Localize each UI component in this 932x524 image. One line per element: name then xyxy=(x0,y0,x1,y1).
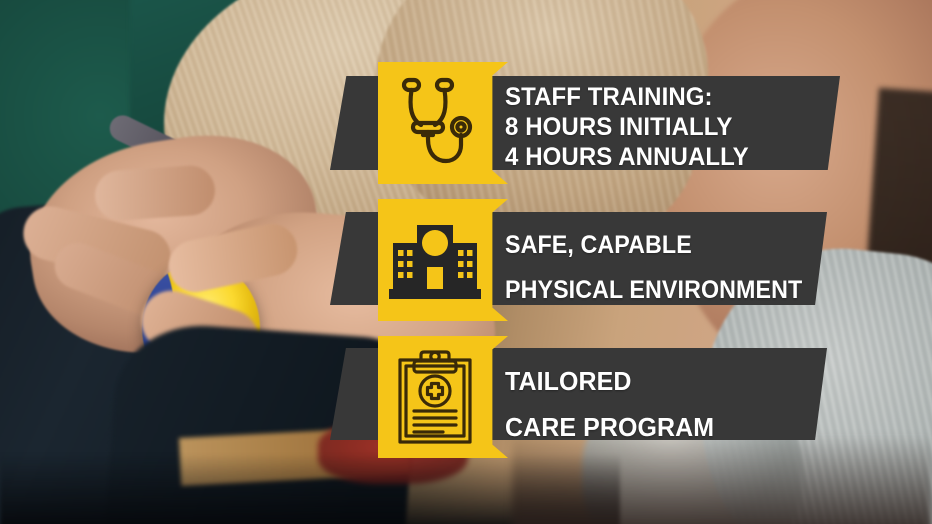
info-row-physical-environment: SAFE, CAPABLE PHYSICAL ENVIRONMENT xyxy=(330,199,850,321)
info-row-text: STAFF TRAINING: 8 HOURS INITIALLY 4 HOUR… xyxy=(505,82,749,172)
info-line-2: PHYSICAL ENVIRONMENT xyxy=(505,268,802,313)
info-line-1: SAFE, CAPABLE xyxy=(505,223,802,268)
info-line-1: TAILORED xyxy=(505,358,714,404)
stethoscope-icon xyxy=(378,62,492,184)
info-row-staff-training: STAFF TRAINING: 8 HOURS INITIALLY 4 HOUR… xyxy=(330,62,850,184)
info-row-icon-tile xyxy=(378,199,508,321)
info-row-care-program: TAILORED CARE PROGRAM xyxy=(330,336,850,458)
info-row-icon-tile xyxy=(378,336,508,458)
info-row-text: SAFE, CAPABLE PHYSICAL ENVIRONMENT xyxy=(505,223,802,313)
info-row-text: TAILORED CARE PROGRAM xyxy=(505,358,714,450)
infographic-overlay: STAFF TRAINING: 8 HOURS INITIALLY 4 HOUR… xyxy=(0,0,932,524)
info-line-1: STAFF TRAINING: xyxy=(505,82,749,112)
hospital-building-icon xyxy=(378,199,492,321)
clipboard-medical-icon xyxy=(378,336,492,458)
info-line-2: 8 HOURS INITIALLY xyxy=(505,112,749,142)
info-line-3: 4 HOURS ANNUALLY xyxy=(505,142,749,172)
info-row-icon-tile xyxy=(378,62,508,184)
info-line-2: CARE PROGRAM xyxy=(505,404,714,450)
